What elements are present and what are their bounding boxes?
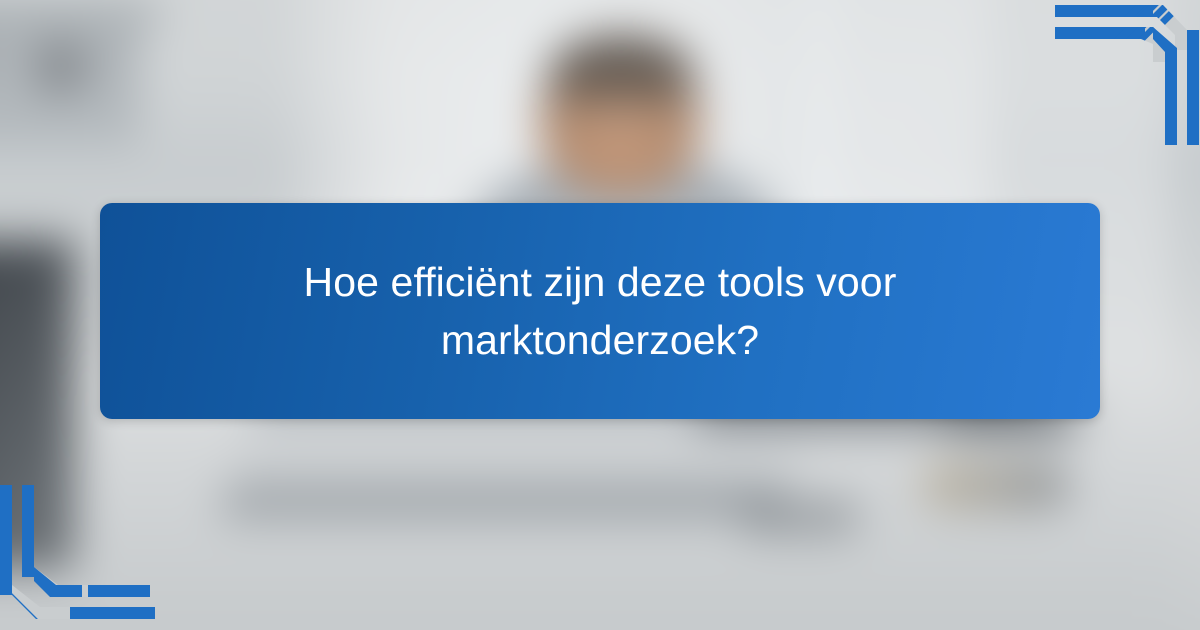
page-title: Hoe efficiënt zijn deze tools voor markt… bbox=[280, 253, 920, 369]
title-banner: Hoe efficiënt zijn deze tools voor markt… bbox=[100, 203, 1100, 419]
social-share-card: Hoe efficiënt zijn deze tools voor markt… bbox=[0, 0, 1200, 630]
